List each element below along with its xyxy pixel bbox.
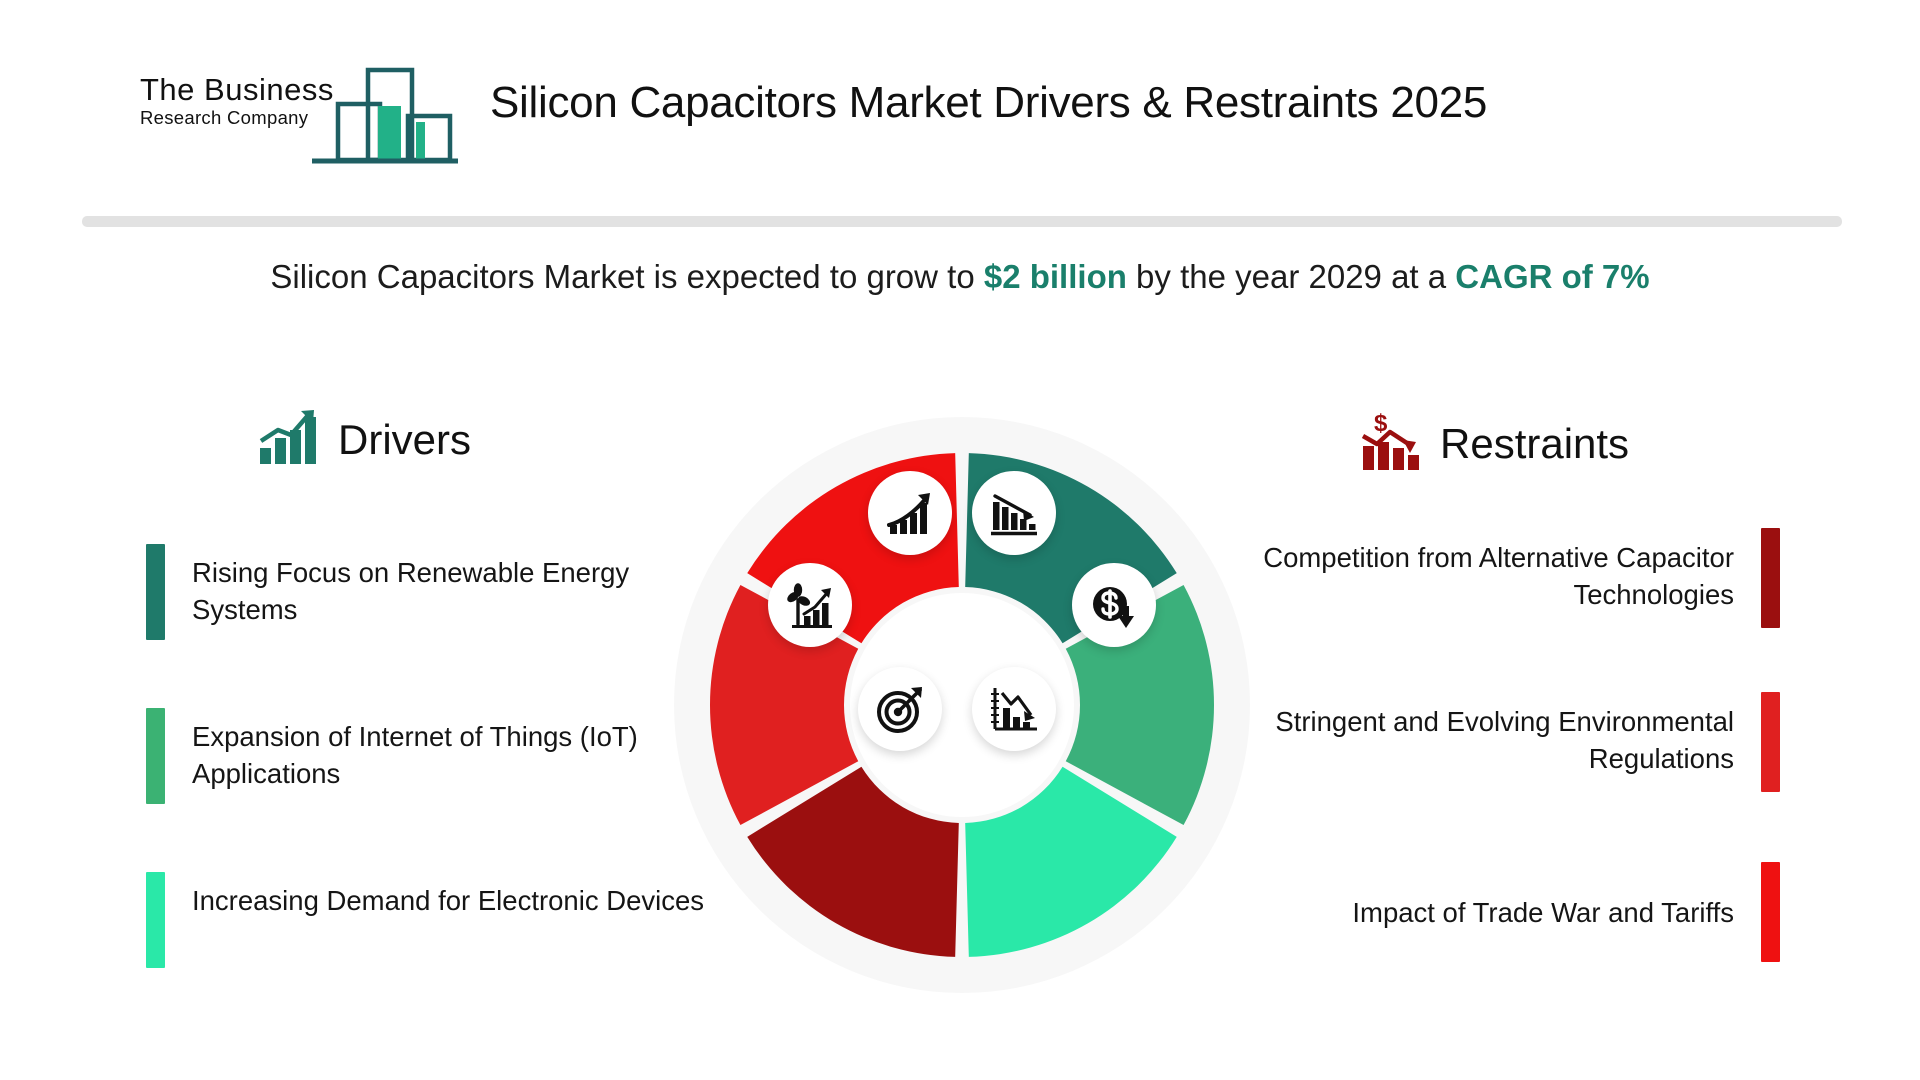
bar-chart-up-icon [258, 408, 320, 471]
subtitle-part-2: by the year 2029 at a [1127, 258, 1455, 295]
driver-accent-bar [146, 872, 165, 968]
driver-accent-bar [146, 708, 165, 804]
driver-label: Expansion of Internet of Things (IoT) Ap… [192, 708, 706, 804]
subtitle-value-highlight: $2 billion [984, 258, 1127, 295]
page-title: Silicon Capacitors Market Drivers & Rest… [490, 78, 1780, 128]
restraint-label: Stringent and Evolving Environmental Reg… [1200, 692, 1734, 792]
subtitle-part-1: Silicon Capacitors Market is expected to… [270, 258, 983, 295]
restraints-heading: $ Restraints [1360, 410, 1629, 477]
driver-label: Increasing Demand for Electronic Devices [192, 872, 704, 968]
segment-icon-falling-line-chart[interactable] [972, 667, 1056, 751]
drivers-heading: Drivers [258, 408, 471, 471]
driver-list-item: Expansion of Internet of Things (IoT) Ap… [146, 708, 706, 804]
restraint-accent-bar [1761, 692, 1780, 792]
donut-svg [672, 415, 1252, 995]
segment-icon-growth-chart-arrow[interactable] [868, 471, 952, 555]
header-divider [82, 216, 1842, 227]
driver-list-item: Increasing Demand for Electronic Devices [146, 872, 706, 968]
restraint-label: Impact of Trade War and Tariffs [1352, 862, 1734, 962]
segment-icon-plant-growth-chart[interactable] [768, 563, 852, 647]
driver-list-item: Rising Focus on Renewable Energy Systems [146, 544, 706, 640]
segment-icon-declining-bar-chart[interactable] [972, 471, 1056, 555]
restraints-heading-label: Restraints [1440, 420, 1629, 468]
segment-icon-dollar-down-arrow[interactable] [1072, 563, 1156, 647]
subtitle-cagr-highlight: CAGR of 7% [1455, 258, 1649, 295]
restraint-list-item: Stringent and Evolving Environmental Reg… [1200, 692, 1780, 792]
company-logo: The Business Research Company [140, 58, 470, 168]
restraint-list-item: Competition from Alternative Capacitor T… [1200, 528, 1780, 628]
restraint-accent-bar [1761, 862, 1780, 962]
header-banner: The Business Research Company Silicon Ca… [0, 0, 1920, 200]
bar-chart-down-dollar-icon: $ [1360, 410, 1422, 477]
drivers-restraints-donut-chart [672, 415, 1252, 995]
restraint-accent-bar [1761, 528, 1780, 628]
driver-label: Rising Focus on Renewable Energy Systems [192, 544, 706, 640]
segment-icon-target-dart[interactable] [858, 667, 942, 751]
driver-accent-bar [146, 544, 165, 640]
bar-chart-logo-icon [308, 58, 460, 173]
restraint-list-item: Impact of Trade War and Tariffs [1200, 862, 1780, 962]
market-summary-text: Silicon Capacitors Market is expected to… [0, 258, 1920, 296]
drivers-heading-label: Drivers [338, 416, 471, 464]
restraint-label: Competition from Alternative Capacitor T… [1200, 528, 1734, 628]
